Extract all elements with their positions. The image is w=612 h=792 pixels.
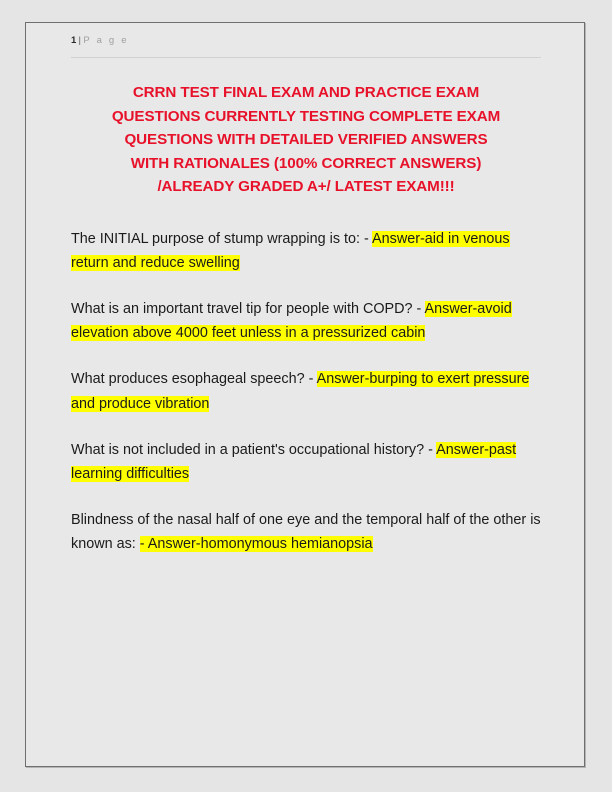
qa-answer-highlight: - Answer-homonymous hemianopsia bbox=[140, 536, 373, 552]
qa-question: What produces esophageal speech? - bbox=[71, 371, 317, 387]
header-page-number: 1 bbox=[71, 35, 76, 46]
qa-block: The INITIAL purpose of stump wrapping is… bbox=[71, 227, 541, 275]
running-header: 1|P a g e bbox=[71, 35, 541, 59]
qa-block: What produces esophageal speech? - Answe… bbox=[71, 367, 541, 415]
title-line-2: QUESTIONS CURRENTLY TESTING COMPLETE EXA… bbox=[71, 105, 541, 129]
qa-question: What is not included in a patient's occu… bbox=[71, 442, 436, 458]
header-divider bbox=[71, 57, 541, 58]
qa-block: What is not included in a patient's occu… bbox=[71, 438, 541, 486]
page-number-header: 1|P a g e bbox=[71, 35, 541, 46]
title-line-5: /ALREADY GRADED A+/ LATEST EXAM!!! bbox=[71, 175, 541, 199]
title-line-3: QUESTIONS WITH DETAILED VERIFIED ANSWERS bbox=[71, 128, 541, 152]
document-title: CRRN TEST FINAL EXAM AND PRACTICE EXAM Q… bbox=[71, 81, 541, 199]
qa-list: The INITIAL purpose of stump wrapping is… bbox=[71, 227, 541, 557]
qa-question: What is an important travel tip for peop… bbox=[71, 301, 425, 317]
title-line-4: WITH RATIONALES (100% CORRECT ANSWERS) bbox=[71, 152, 541, 176]
header-separator: | bbox=[78, 35, 81, 46]
title-line-1: CRRN TEST FINAL EXAM AND PRACTICE EXAM bbox=[71, 81, 541, 105]
page-content-area: 1|P a g e CRRN TEST FINAL EXAM AND PRACT… bbox=[71, 35, 541, 557]
qa-question: The INITIAL purpose of stump wrapping is… bbox=[71, 231, 372, 247]
qa-block: What is an important travel tip for peop… bbox=[71, 297, 541, 345]
header-page-word: P a g e bbox=[83, 35, 128, 46]
qa-block: Blindness of the nasal half of one eye a… bbox=[71, 508, 541, 556]
document-page: 1|P a g e CRRN TEST FINAL EXAM AND PRACT… bbox=[25, 22, 585, 767]
